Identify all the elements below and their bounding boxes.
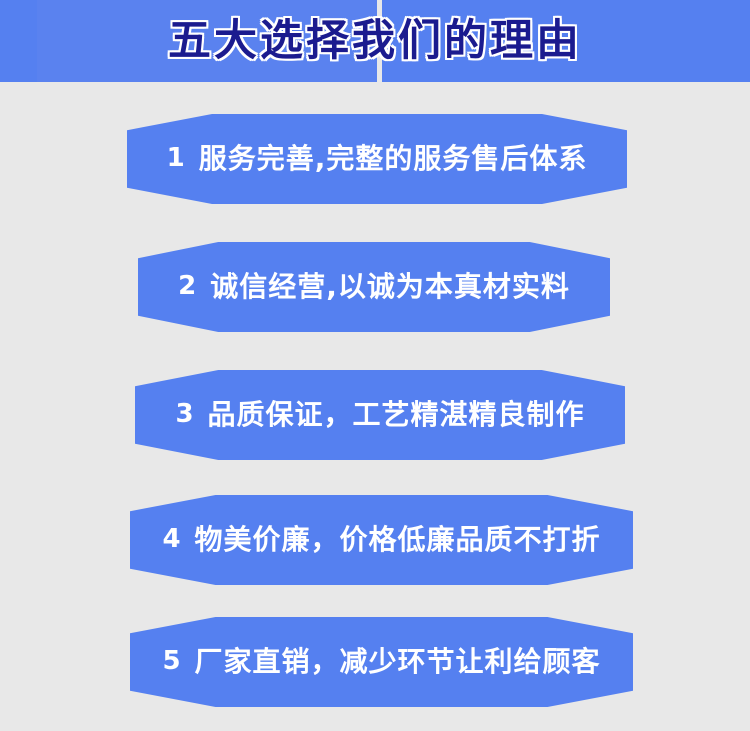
reason-item-1: 1 服务完善,完整的服务售后体系 <box>127 114 627 204</box>
page-title: 五大选择我们的理由 <box>0 0 750 82</box>
reason-item-2: 2 诚信经营,以诚为本真材实料 <box>138 242 610 332</box>
reason-item-3: 3 品质保证，工艺精湛精良制作 <box>135 370 625 460</box>
reason-text: 诚信经营,以诚为本真材实料 <box>210 273 570 301</box>
reason-number: 5 <box>162 648 180 676</box>
reason-row: 5 厂家直销，减少环节让利给顾客 <box>162 648 600 676</box>
reason-text: 品质保证，工艺精湛精良制作 <box>208 401 585 429</box>
reason-row: 3 品质保证，工艺精湛精良制作 <box>175 401 584 429</box>
promo-poster: 五大选择我们的理由 1 服务完善,完整的服务售后体系 2 诚信经营,以诚为本真材… <box>0 0 750 731</box>
reason-number: 3 <box>175 401 193 429</box>
reason-text: 厂家直销，减少环节让利给顾客 <box>195 648 601 676</box>
reason-item-4: 4 物美价廉，价格低廉品质不打折 <box>130 495 633 585</box>
reasons-list: 1 服务完善,完整的服务售后体系 2 诚信经营,以诚为本真材实料 3 品质保证，… <box>0 82 750 731</box>
reason-text: 服务完善,完整的服务售后体系 <box>199 145 588 173</box>
reason-row: 4 物美价廉，价格低廉品质不打折 <box>162 526 600 554</box>
reason-text: 物美价廉，价格低廉品质不打折 <box>195 526 601 554</box>
reason-number: 2 <box>178 273 196 301</box>
reason-row: 1 服务完善,完整的服务售后体系 <box>167 145 588 173</box>
poster-header: 五大选择我们的理由 <box>0 0 750 82</box>
reason-item-5: 5 厂家直销，减少环节让利给顾客 <box>130 617 633 707</box>
reason-number: 4 <box>162 526 180 554</box>
reason-row: 2 诚信经营,以诚为本真材实料 <box>178 273 570 301</box>
reason-number: 1 <box>167 145 185 173</box>
